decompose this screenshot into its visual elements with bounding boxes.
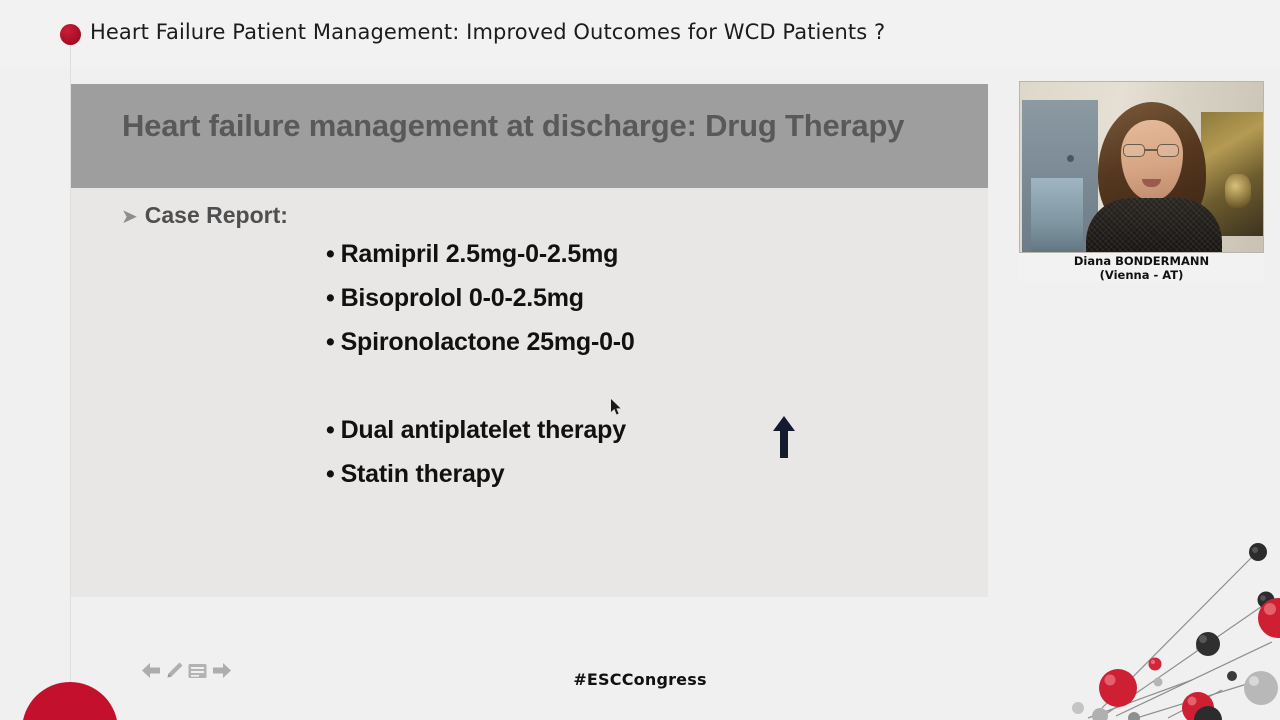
speaker-name: Diana BONDERMANN [1019, 254, 1264, 268]
case-report-heading: ➤ Case Report: [121, 202, 288, 229]
glasses-bridge [1145, 149, 1157, 151]
molecule-graphic [1072, 530, 1280, 720]
list-item-text: Bisoprolol 0-0-2.5mg [341, 284, 584, 312]
up-arrow-icon [772, 416, 796, 458]
speaker-glasses [1123, 144, 1181, 157]
bullet-dot-icon: • [326, 284, 335, 312]
red-dot-icon [60, 24, 81, 45]
list-item-text: Statin therapy [341, 460, 505, 488]
list-item-text: Spironolactone 25mg-0-0 [341, 328, 635, 356]
slide-title: Heart failure management at discharge: D… [122, 105, 912, 147]
bullet-dot-icon: • [326, 460, 335, 488]
speaker-torso [1086, 198, 1222, 253]
video-wall-art-detail [1225, 174, 1251, 208]
case-report-label: Case Report: [145, 202, 288, 229]
slide-title-bar: Heart failure management at discharge: D… [71, 84, 988, 188]
speaker-video[interactable] [1019, 81, 1264, 253]
drug-therapy-list: •Ramipril 2.5mg-0-2.5mg •Bisoprolol 0-0-… [326, 232, 635, 496]
slide-body: ➤ Case Report: •Ramipril 2.5mg-0-2.5mg •… [71, 188, 988, 597]
slide-canvas[interactable]: Heart failure management at discharge: D… [71, 84, 988, 597]
list-item: •Bisoprolol 0-0-2.5mg [326, 276, 635, 320]
glasses-left-lens [1123, 144, 1145, 157]
glasses-right-lens [1157, 144, 1179, 157]
list-item-text: Ramipril 2.5mg-0-2.5mg [341, 240, 619, 268]
mouse-cursor [611, 399, 623, 417]
event-hashtag: #ESCCongress [0, 670, 1280, 689]
bullet-dot-icon: • [326, 328, 335, 356]
session-title: Heart Failure Patient Management: Improv… [90, 20, 885, 44]
speaker-video-tile[interactable]: Diana BONDERMANN (Vienna - AT) [1019, 81, 1264, 281]
speaker-caption: Diana BONDERMANN (Vienna - AT) [1019, 254, 1264, 282]
list-item: •Ramipril 2.5mg-0-2.5mg [326, 232, 635, 276]
list-item: •Statin therapy [326, 452, 635, 496]
speaker-torso-texture [1086, 198, 1222, 253]
session-header: Heart Failure Patient Management: Improv… [0, 0, 1280, 68]
speaker-location: (Vienna - AT) [1019, 268, 1264, 282]
chevron-right-icon: ➤ [121, 207, 138, 227]
presentation-viewer: Heart Failure Patient Management: Improv… [0, 0, 1280, 720]
video-door-panel [1031, 178, 1083, 253]
list-item: •Dual antiplatelet therapy [326, 408, 635, 452]
video-door-knob [1067, 155, 1074, 162]
bullet-dot-icon: • [326, 240, 335, 268]
bullet-dot-icon: • [326, 416, 335, 444]
list-item: •Spironolactone 25mg-0-0 [326, 320, 635, 364]
list-item-text: Dual antiplatelet therapy [341, 416, 626, 444]
